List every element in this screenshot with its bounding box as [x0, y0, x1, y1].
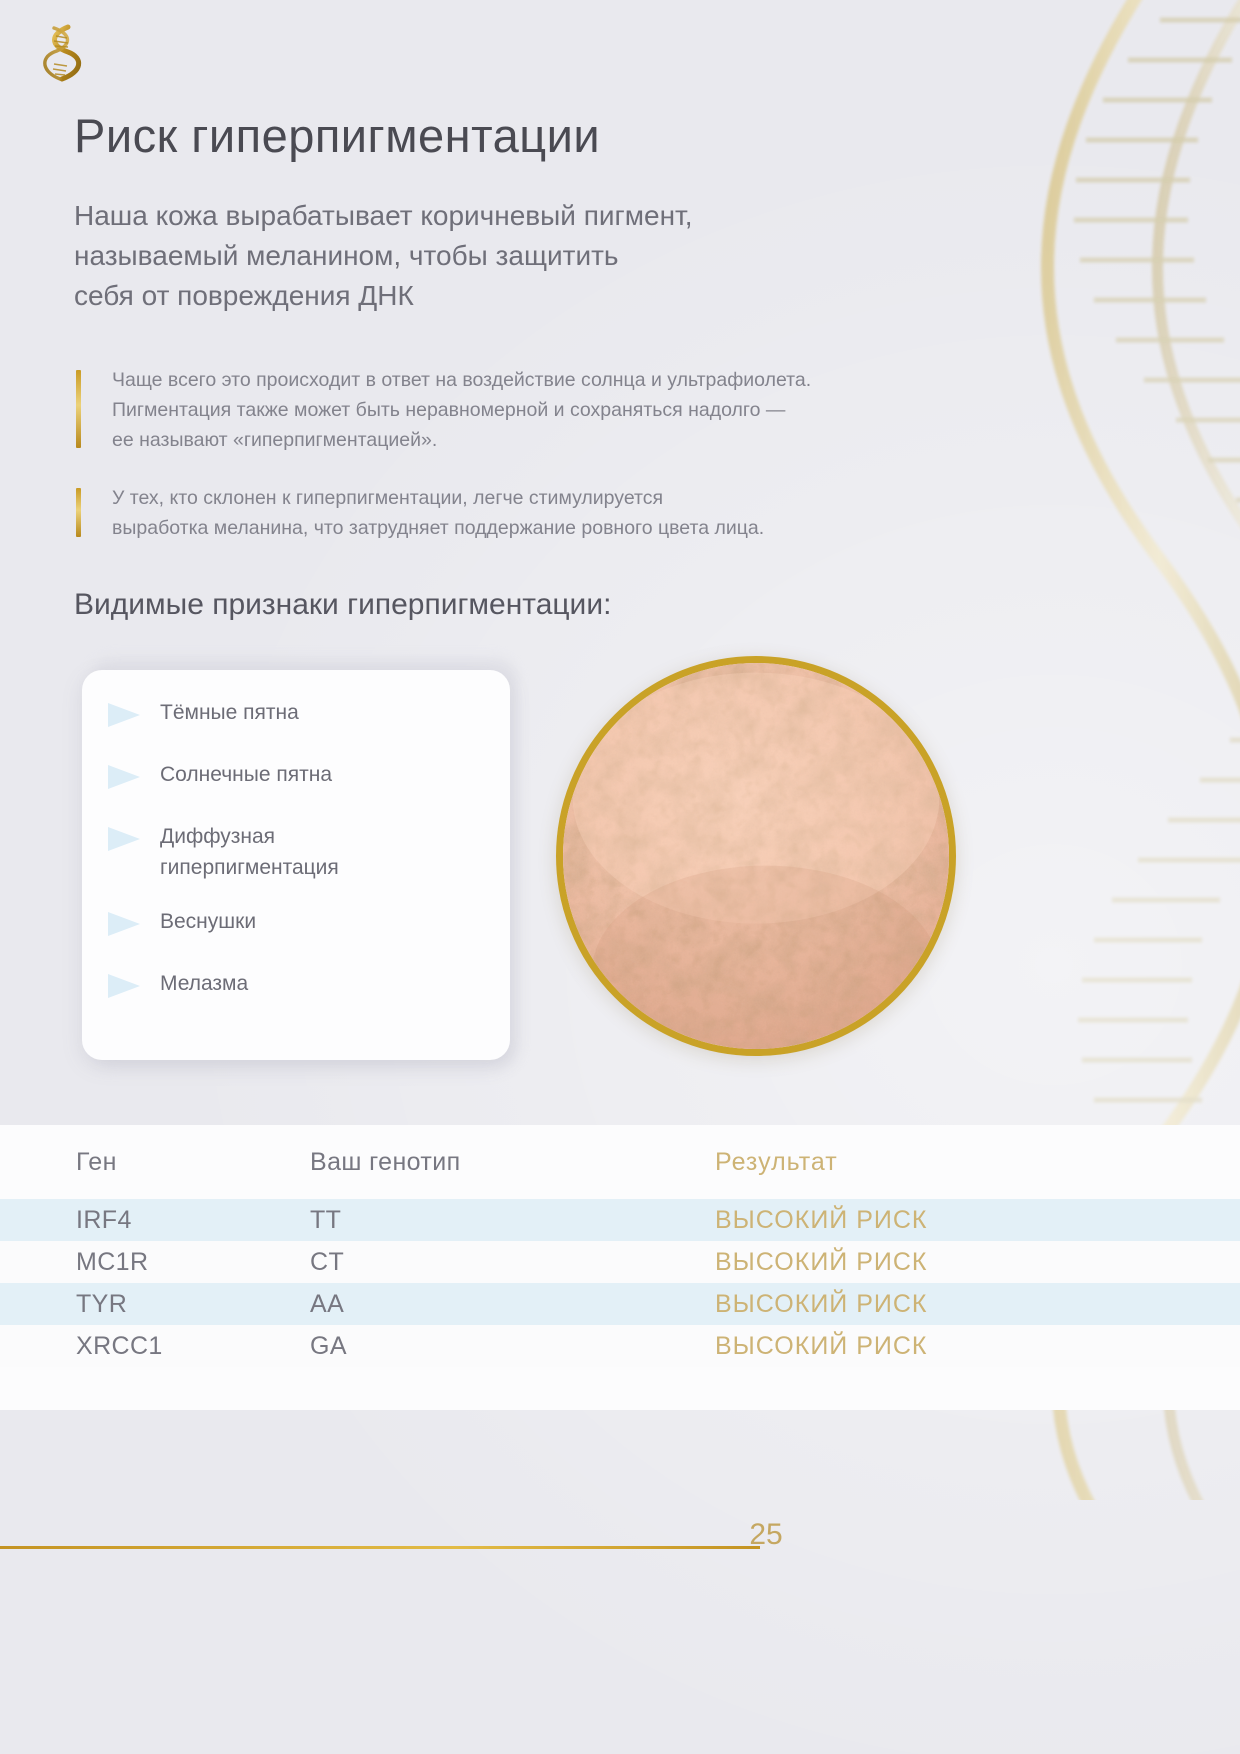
- callout-line: Чаще всего это происходит в ответ на воз…: [112, 366, 811, 396]
- triangle-right-icon: [106, 909, 142, 939]
- status-badge: ВЫСОКИЙ РИСК: [715, 1290, 1240, 1319]
- column-header-gene: Ген: [0, 1148, 310, 1177]
- callout-block: Чаще всего это происходит в ответ на воз…: [76, 366, 811, 455]
- table-row: TYR AA ВЫСОКИЙ РИСК: [0, 1283, 1240, 1325]
- list-item-label: Солнечные пятна: [160, 758, 332, 790]
- subtitle-line: себя от повреждения ДНК: [74, 276, 974, 316]
- page-number: 25: [726, 1518, 806, 1552]
- list-item-label: Мелазма: [160, 967, 248, 999]
- table-row: MC1R CT ВЫСОКИЙ РИСК: [0, 1241, 1240, 1283]
- table-row: XRCC1 GA ВЫСОКИЙ РИСК: [0, 1325, 1240, 1367]
- list-item: Мелазма: [106, 967, 494, 1007]
- footer-divider: [0, 1546, 760, 1549]
- cell-gene: MC1R: [0, 1248, 310, 1277]
- status-badge: ВЫСОКИЙ РИСК: [715, 1248, 1240, 1277]
- triangle-right-icon: [106, 824, 142, 854]
- gold-accent-bar: [76, 488, 81, 537]
- subtitle-line: Наша кожа вырабатывает коричневый пигмен…: [74, 196, 974, 236]
- cell-genotype: AA: [310, 1290, 715, 1319]
- table-row: IRF4 TT ВЫСОКИЙ РИСК: [0, 1199, 1240, 1241]
- triangle-right-icon: [106, 971, 142, 1001]
- list-item: Веснушки: [106, 905, 494, 945]
- cell-gene: IRF4: [0, 1206, 310, 1235]
- subtitle-line: называемый меланином, чтобы защитить: [74, 236, 974, 276]
- callout-line: ее называют «гиперпигментацией».: [112, 426, 811, 456]
- list-item-label: Веснушки: [160, 905, 256, 937]
- symptom-card: Тёмные пятна Солнечные пятна Диффузная г…: [82, 670, 510, 1060]
- column-header-result: Результат: [715, 1148, 1240, 1177]
- cell-genotype: GA: [310, 1332, 715, 1361]
- callout-text: У тех, кто склонен к гиперпигментации, л…: [112, 484, 764, 544]
- table-header-row: Ген Ваш генотип Результат: [0, 1125, 1240, 1199]
- list-item-label: Тёмные пятна: [160, 696, 299, 728]
- callout-line: Пигментация также может быть неравномерн…: [112, 396, 811, 426]
- triangle-right-icon: [106, 762, 142, 792]
- callout-line: выработка меланина, что затрудняет подде…: [112, 514, 764, 544]
- list-item: Тёмные пятна: [106, 696, 494, 736]
- column-header-genotype: Ваш генотип: [310, 1148, 715, 1177]
- symptom-list: Тёмные пятна Солнечные пятна Диффузная г…: [106, 696, 494, 1007]
- gene-results-table: Ген Ваш генотип Результат IRF4 TT ВЫСОКИ…: [0, 1125, 1240, 1367]
- list-item: Солнечные пятна: [106, 758, 494, 798]
- signs-heading: Видимые признаки гиперпигментации:: [74, 588, 611, 622]
- page-title: Риск гиперпигментации: [74, 108, 600, 163]
- page-subtitle: Наша кожа вырабатывает коричневый пигмен…: [74, 196, 974, 316]
- list-item: Диффузная гиперпигментация: [106, 820, 494, 883]
- cell-genotype: CT: [310, 1248, 715, 1277]
- cell-gene: TYR: [0, 1290, 310, 1319]
- callout-line: У тех, кто склонен к гиперпигментации, л…: [112, 484, 764, 514]
- cell-genotype: TT: [310, 1206, 715, 1235]
- callout-block: У тех, кто склонен к гиперпигментации, л…: [76, 484, 764, 544]
- status-badge: ВЫСОКИЙ РИСК: [715, 1332, 1240, 1361]
- status-badge: ВЫСОКИЙ РИСК: [715, 1206, 1240, 1235]
- callout-text: Чаще всего это происходит в ответ на воз…: [112, 366, 811, 455]
- dna-helix-icon: [38, 22, 84, 84]
- gold-accent-bar: [76, 370, 81, 448]
- list-item-label: Диффузная гиперпигментация: [160, 820, 339, 883]
- skin-closeup-photo: [556, 656, 956, 1056]
- cell-gene: XRCC1: [0, 1332, 310, 1361]
- triangle-right-icon: [106, 700, 142, 730]
